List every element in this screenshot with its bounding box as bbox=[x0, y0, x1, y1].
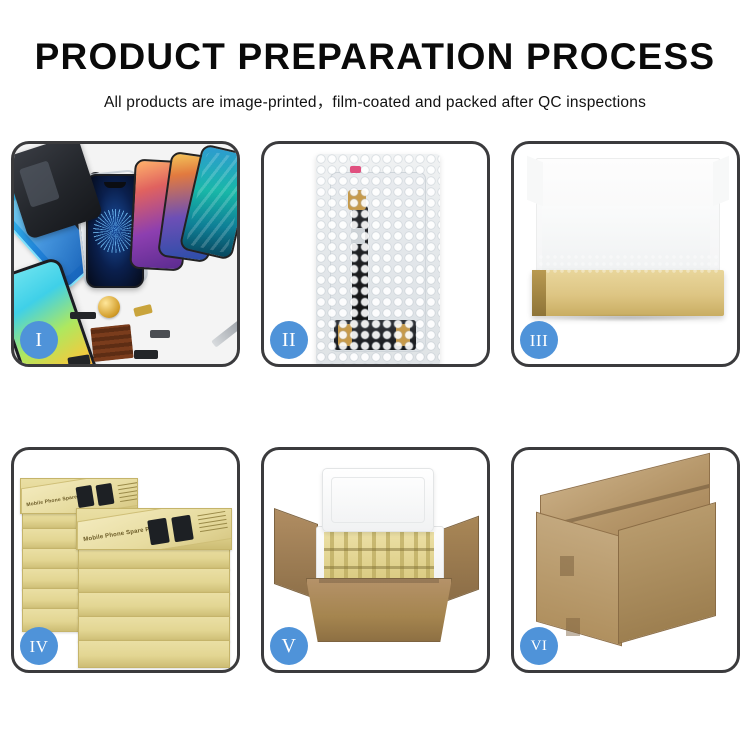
box-artwork-chip bbox=[95, 483, 114, 506]
box-artwork-chip bbox=[147, 518, 170, 546]
carton-body-icon bbox=[306, 578, 452, 642]
step-numeral-6: VI bbox=[531, 639, 548, 654]
product-preparation-infographic: PRODUCT PREPARATION PROCESS All products… bbox=[0, 0, 750, 750]
charging-port-icon bbox=[150, 330, 170, 338]
steps-grid: I II bbox=[11, 141, 740, 673]
foam-lid-icon bbox=[322, 468, 434, 532]
qc-sticker-icon bbox=[350, 166, 361, 173]
step-numeral-2: II bbox=[282, 330, 296, 350]
step-panel-6[interactable]: VI bbox=[511, 447, 740, 673]
stacked-box bbox=[78, 568, 230, 594]
kraft-tray-icon bbox=[532, 270, 724, 316]
carton-tape-patch-icon bbox=[566, 618, 580, 636]
box-shadow bbox=[540, 314, 718, 322]
step-badge-5: V bbox=[270, 627, 308, 665]
step-panel-3[interactable]: III bbox=[511, 141, 740, 367]
earpiece-mesh-icon bbox=[70, 312, 96, 319]
camera-lens-icon bbox=[98, 296, 120, 318]
tweezers-icon bbox=[211, 320, 237, 347]
step-panel-5[interactable]: V bbox=[261, 447, 490, 673]
page-subtitle: All products are image-printed，film-coat… bbox=[0, 75, 750, 112]
stacked-box bbox=[78, 640, 230, 668]
step-badge-2: II bbox=[270, 321, 308, 359]
logic-board-icon bbox=[90, 324, 133, 362]
step-numeral-3: III bbox=[530, 332, 548, 349]
box-spec-lines bbox=[197, 511, 228, 537]
step-badge-3: III bbox=[520, 321, 558, 359]
stacked-box bbox=[78, 592, 230, 618]
step-numeral-1: I bbox=[35, 330, 42, 350]
stacked-box-top-right: Mobile Phone Spare Parts bbox=[76, 508, 232, 550]
stacked-box bbox=[78, 616, 230, 642]
gold-connector-icon bbox=[133, 304, 153, 317]
step-numeral-4: IV bbox=[30, 638, 49, 655]
carton-tape-patch-icon bbox=[560, 556, 574, 576]
screen-flex-cable-icon bbox=[352, 206, 368, 326]
page-title: PRODUCT PREPARATION PROCESS bbox=[0, 0, 750, 75]
step-panel-1[interactable]: I bbox=[11, 141, 240, 367]
step-panel-4[interactable]: Mobile Phone Spare Parts Mobile Pho bbox=[11, 447, 240, 673]
step-badge-1: I bbox=[20, 321, 58, 359]
bubble-wrap-icon bbox=[316, 154, 440, 364]
ribbon-cable-icon bbox=[134, 350, 158, 359]
lcd-screen-icon bbox=[330, 172, 426, 352]
header: PRODUCT PREPARATION PROCESS All products… bbox=[0, 0, 750, 112]
step-badge-4: IV bbox=[20, 627, 58, 665]
step-badge-6: VI bbox=[520, 627, 558, 665]
step-numeral-5: V bbox=[282, 636, 297, 656]
box-artwork-chip bbox=[171, 515, 194, 543]
box-artwork-chip bbox=[75, 485, 94, 508]
screen-connector-icon bbox=[334, 320, 416, 350]
packed-boxes-icon bbox=[324, 532, 434, 584]
step-panel-2[interactable]: II bbox=[261, 141, 490, 367]
